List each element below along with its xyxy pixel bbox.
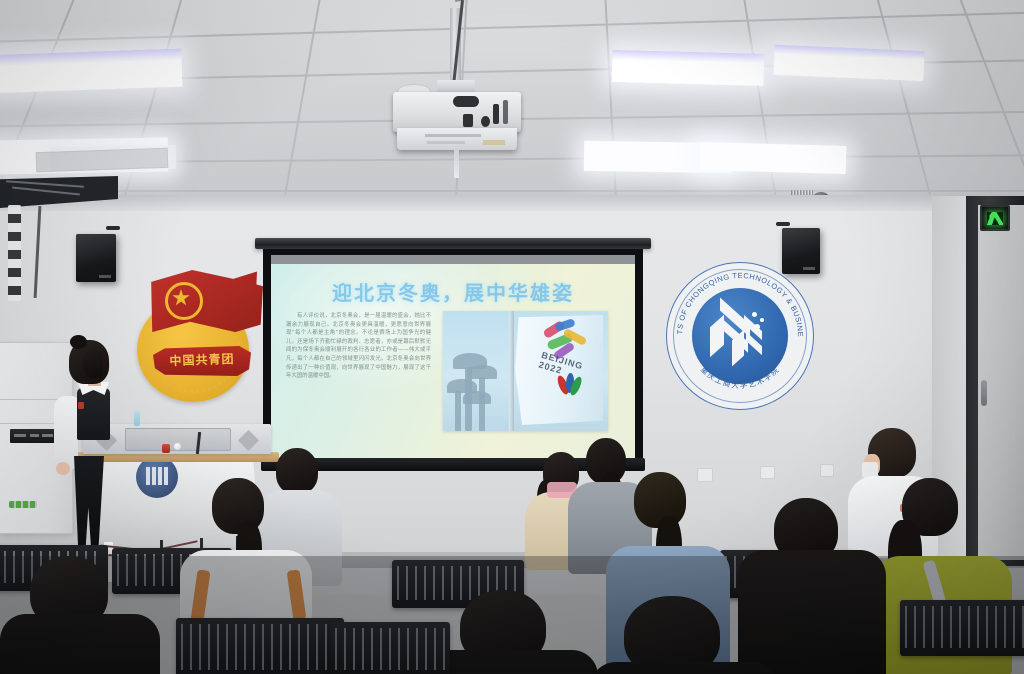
wall-outlet-b[interactable]	[760, 466, 775, 479]
emblem-blue-disc	[692, 288, 788, 384]
door-handle[interactable]	[981, 380, 987, 406]
paralympic-agitos	[559, 373, 581, 399]
slide-title: 迎北京冬奥，展中华雄姿	[271, 277, 635, 306]
speaker-left-bracket	[106, 226, 120, 230]
wall-top-beam	[0, 195, 1024, 211]
projector-knob-b	[493, 104, 499, 124]
wall-outlet-a[interactable]	[697, 468, 713, 482]
wall-speaker-left	[76, 234, 116, 282]
lectern-university-seal	[136, 456, 178, 498]
presenter-trousers	[72, 456, 106, 548]
wall-outlet-c[interactable]	[820, 464, 834, 477]
presenter-hand	[56, 462, 70, 475]
projection-screen-housing	[255, 238, 651, 249]
ceiling-light-6	[700, 142, 847, 174]
projector-drop-rod	[454, 150, 459, 178]
cabinet-green-marker	[9, 501, 37, 508]
china-communist-youth-league-emblem: 中国共青团	[127, 268, 267, 404]
water-bottle	[134, 410, 140, 426]
ceiling-light-1	[0, 49, 183, 94]
ceiling-projector	[393, 92, 521, 132]
speaker-right-bracket	[776, 222, 790, 226]
running-man-icon	[987, 212, 1003, 225]
projector-bracket-a	[453, 96, 479, 107]
white-ball	[174, 443, 181, 450]
flagpole	[509, 311, 514, 431]
classroom-photo: 中国共青团 COLLEGE OF ARTS OF CHONGQING TECHN…	[0, 0, 1024, 674]
drop-ceiling	[0, 0, 1024, 205]
presenter-badge	[78, 402, 84, 409]
emblem-ribbon: 中国共青团	[153, 346, 251, 376]
red-cup	[162, 444, 170, 453]
foreground-shadow	[0, 556, 1024, 674]
university-emblem: COLLEGE OF ARTS OF CHONGQING TECHNOLOGY …	[666, 262, 814, 410]
ceiling-light-3	[612, 50, 765, 86]
projector-knob-c	[503, 100, 508, 124]
slide-body-text: 有人评价说，北京冬奥会，是一届温暖的盛会，她比不漏余力展现自己。北京冬奥会更具温…	[286, 312, 431, 381]
presentation-slide: 迎北京冬奥，展中华雄姿 有人评价说，北京冬奥会，是一届温暖的盛会，她比不漏余力展…	[271, 264, 635, 458]
presenter-hair-bun	[70, 335, 87, 349]
cabinet-control-strip[interactable]	[10, 429, 58, 443]
emblem-ribbon-text: 中国共青团	[153, 349, 252, 369]
projector-bracket-b	[463, 114, 473, 127]
emblem-star-circle	[165, 282, 203, 320]
student-presenter	[52, 340, 122, 555]
striped-column-marker	[8, 205, 21, 301]
emergency-exit-sign	[980, 205, 1010, 231]
projector-knob-a	[481, 116, 490, 127]
presenter-hair-front	[83, 348, 103, 378]
slide-photo: BEIJING 2022	[443, 311, 608, 431]
projector-lower-tray	[397, 128, 517, 150]
presenter-vest	[77, 388, 110, 440]
emblem-monogram	[710, 305, 770, 367]
olympic-tower-silhouette	[447, 349, 511, 431]
